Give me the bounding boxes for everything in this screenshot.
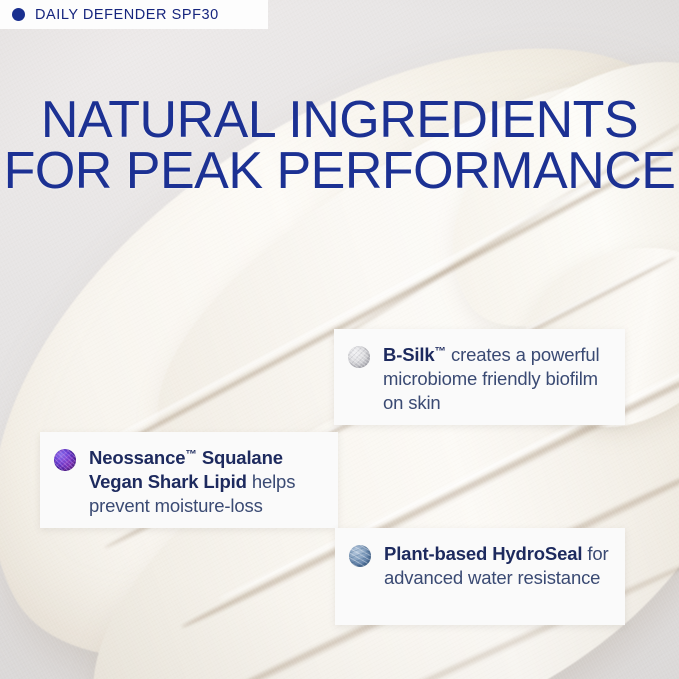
feature-card-b-silk: B-Silk™ creates a powerful microbiome fr…	[334, 329, 625, 425]
product-badge: DAILY DEFENDER SPF30	[0, 0, 268, 29]
purple-sphere-icon	[54, 449, 76, 471]
feature-card-neossance: Neossance™ Squalane Vegan Shark Lipid he…	[40, 432, 338, 528]
blue-wave-sphere-icon	[349, 545, 371, 567]
feature-card-text: Plant-based HydroSeal for advanced water…	[384, 542, 613, 590]
feature-lead-label: B-Silk	[383, 344, 435, 365]
product-badge-label: DAILY DEFENDER SPF30	[35, 7, 219, 23]
trademark-symbol: ™	[435, 346, 446, 358]
feature-lead-label: Neossance	[89, 447, 185, 468]
trademark-symbol: ™	[185, 449, 196, 461]
silver-sphere-icon	[348, 346, 370, 368]
feature-card-text: B-Silk™ creates a powerful microbiome fr…	[383, 343, 613, 415]
feature-card-text: Neossance™ Squalane Vegan Shark Lipid he…	[89, 446, 326, 518]
product-feature-graphic: DAILY DEFENDER SPF30 NATURAL INGREDIENTS…	[0, 0, 679, 679]
feature-card-hydroseal: Plant-based HydroSeal for advanced water…	[335, 528, 625, 625]
page-title: NATURAL INGREDIENTS FOR PEAK PERFORMANCE	[0, 95, 679, 197]
bullet-dot-icon	[12, 8, 25, 21]
feature-lead-label: Plant-based HydroSeal	[384, 543, 582, 564]
